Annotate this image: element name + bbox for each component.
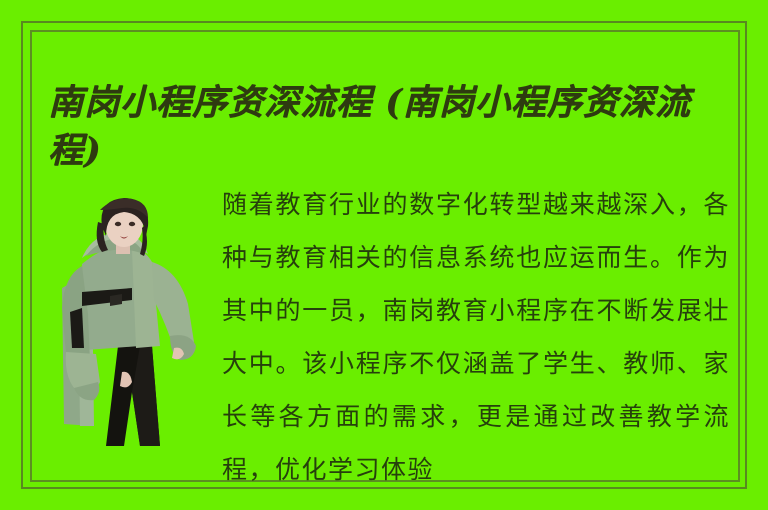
article-figure: [48, 196, 204, 452]
article-body-text: 随着教育行业的数字化转型越来越深入，各种与教育相关的信息系统也应运而生。作为其中…: [222, 178, 730, 486]
article-card: 南岗小程序资深流程 (南岗小程序资深流程): [0, 0, 768, 510]
person-photo: [48, 196, 204, 452]
page-title: 南岗小程序资深流程 (南岗小程序资深流程): [48, 79, 732, 175]
